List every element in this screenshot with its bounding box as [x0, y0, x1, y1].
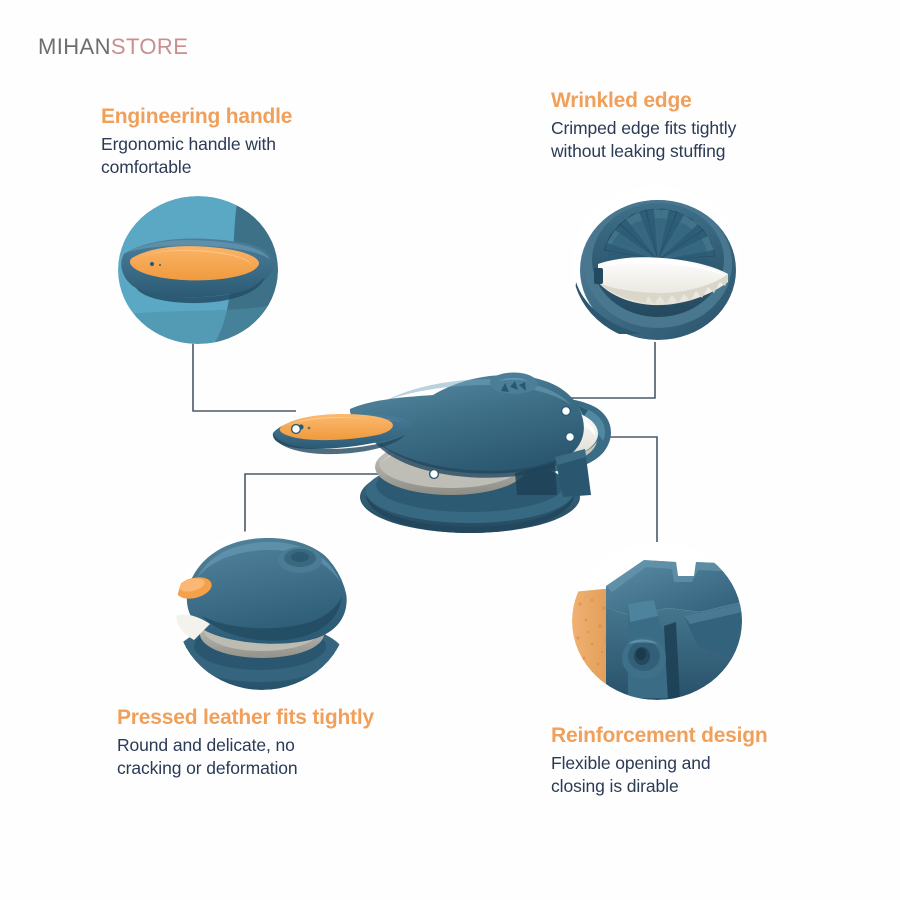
callout-body-line: closing is dirable	[551, 775, 768, 798]
callout-title: Engineering handle	[101, 105, 292, 130]
dumpling-maker-illustration	[255, 345, 655, 540]
hero-dot-hinge	[566, 433, 575, 442]
hero-dot-handle	[292, 425, 301, 434]
product-infographic-page: MIHANSTORE Engineering handle Ergonomic …	[0, 0, 900, 900]
callout-body: Flexible opening and closing is dirable	[551, 752, 768, 798]
callout-engineering-handle: Engineering handle Ergonomic handle with…	[101, 105, 292, 179]
detail-image-handle-closeup	[118, 196, 278, 344]
callout-title: Pressed leather fits tightly	[117, 706, 374, 731]
callout-body-line: Flexible opening and	[551, 752, 768, 775]
callout-pressed-leather: Pressed leather fits tightly Round and d…	[117, 706, 374, 780]
detail-image-press-disc-closeup	[176, 530, 348, 690]
detail-image-crimped-edge-closeup	[572, 186, 740, 342]
callout-body: Round and delicate, no cracking or defor…	[117, 734, 374, 780]
callout-body: Ergonomic handle with comfortable	[101, 133, 292, 179]
detail-image-hinge-closeup	[572, 542, 742, 700]
hero-product-dumpling-maker	[255, 345, 655, 540]
callout-body-line: comfortable	[101, 156, 292, 179]
callout-body-line: cracking or deformation	[117, 757, 374, 780]
handle-closeup-illustration	[118, 196, 278, 344]
crimped-edge-illustration	[572, 186, 740, 342]
callout-body-line: Crimped edge fits tightly	[551, 117, 736, 140]
callout-title: Wrinkled edge	[551, 89, 736, 114]
callout-body: Crimped edge fits tightly without leakin…	[551, 117, 736, 163]
callout-body-line: without leaking stuffing	[551, 140, 736, 163]
callout-title: Reinforcement design	[551, 724, 768, 749]
hinge-illustration	[572, 542, 742, 700]
hero-dot-crimp	[562, 407, 571, 416]
press-disc-illustration	[176, 530, 348, 690]
callout-reinforcement-design: Reinforcement design Flexible opening an…	[551, 724, 768, 798]
callout-body-line: Ergonomic handle with	[101, 133, 292, 156]
hero-dot-press	[430, 470, 439, 479]
callout-body-line: Round and delicate, no	[117, 734, 374, 757]
callout-wrinkled-edge: Wrinkled edge Crimped edge fits tightly …	[551, 89, 736, 163]
